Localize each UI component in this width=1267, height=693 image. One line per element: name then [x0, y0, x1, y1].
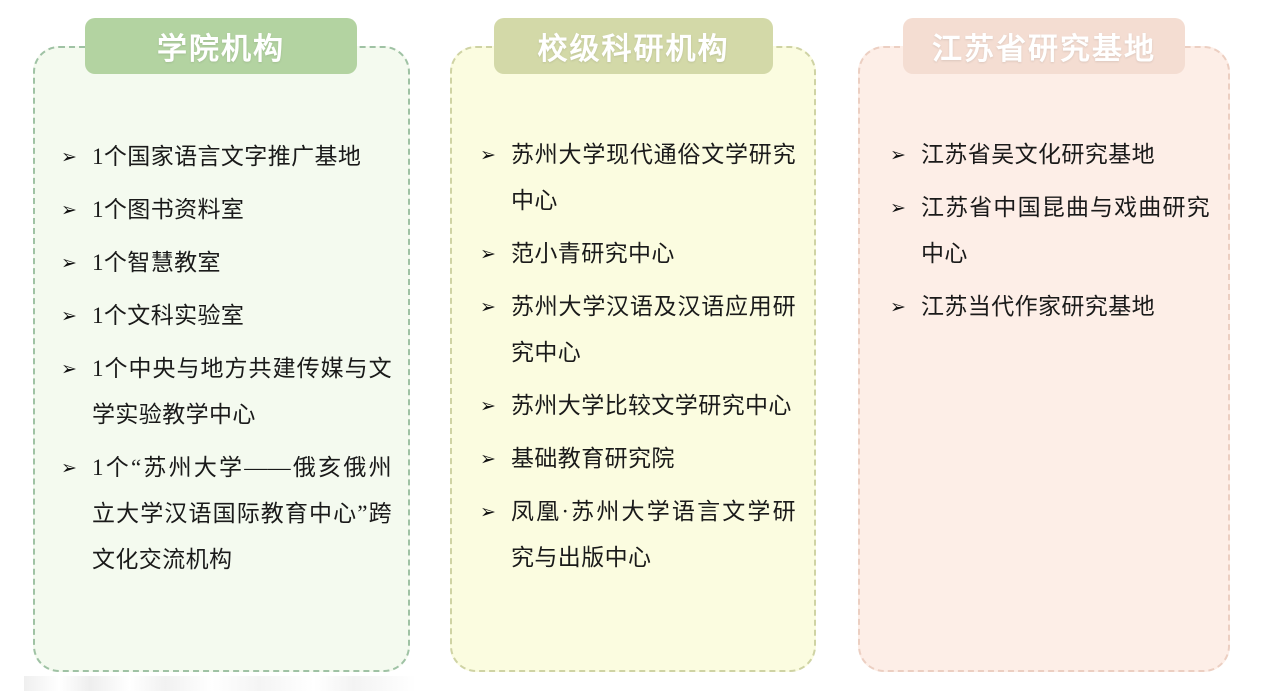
list-item: ➢ 苏州大学汉语及汉语应用研究中心	[480, 284, 796, 376]
arrow-bullet-icon: ➢	[61, 134, 87, 180]
list-item-label: 1个图书资料室	[92, 187, 392, 233]
arrow-bullet-icon: ➢	[890, 284, 916, 330]
list-item-label: 苏州大学现代通俗文学研究中心	[511, 132, 796, 224]
arrow-bullet-icon: ➢	[890, 185, 916, 231]
list-item: ➢ 苏州大学现代通俗文学研究中心	[480, 132, 796, 224]
list-item-label: 1个智慧教室	[92, 240, 392, 286]
list-item-label: 1个“苏州大学——俄亥俄州立大学汉语国际教育中心”跨文化交流机构	[92, 445, 392, 583]
list-item: ➢ 江苏省吴文化研究基地	[890, 132, 1210, 178]
list-item: ➢ 1个文科实验室	[61, 293, 392, 339]
arrow-bullet-icon: ➢	[61, 293, 87, 339]
list-item: ➢ 范小青研究中心	[480, 231, 796, 277]
arrow-bullet-icon: ➢	[480, 231, 506, 277]
list-academy-institutions: ➢ 1个国家语言文字推广基地 ➢ 1个图书资料室 ➢ 1个智慧教室 ➢ 1个文科…	[35, 134, 408, 590]
card-title-university-research-institutions: 校级科研机构	[494, 18, 773, 74]
arrow-bullet-icon: ➢	[480, 284, 506, 330]
arrow-bullet-icon: ➢	[480, 383, 506, 429]
list-item: ➢ 江苏省中国昆曲与戏曲研究中心	[890, 185, 1210, 277]
list-item-label: 1个中央与地方共建传媒与文学实验教学中心	[92, 346, 392, 438]
list-item-label: 苏州大学比较文学研究中心	[511, 383, 796, 429]
card-title-academy-institutions: 学院机构	[85, 18, 357, 74]
arrow-bullet-icon: ➢	[480, 132, 506, 178]
list-item: ➢ 1个图书资料室	[61, 187, 392, 233]
infographic-board: ➢ 1个国家语言文字推广基地 ➢ 1个图书资料室 ➢ 1个智慧教室 ➢ 1个文科…	[0, 0, 1267, 693]
list-item-label: 江苏省吴文化研究基地	[921, 132, 1210, 178]
list-item-label: 苏州大学汉语及汉语应用研究中心	[511, 284, 796, 376]
list-item: ➢ 1个中央与地方共建传媒与文学实验教学中心	[61, 346, 392, 438]
arrow-bullet-icon: ➢	[890, 132, 916, 178]
list-item-label: 凤凰·苏州大学语言文学研究与出版中心	[511, 489, 796, 581]
card-jiangsu-province-research-bases: ➢ 江苏省吴文化研究基地 ➢ 江苏省中国昆曲与戏曲研究中心 ➢ 江苏当代作家研究…	[858, 46, 1230, 672]
list-item: ➢ 凤凰·苏州大学语言文学研究与出版中心	[480, 489, 796, 581]
arrow-bullet-icon: ➢	[61, 445, 87, 491]
scan-artifact	[24, 676, 416, 691]
list-item: ➢ 江苏当代作家研究基地	[890, 284, 1210, 330]
list-item-label: 范小青研究中心	[511, 231, 796, 277]
arrow-bullet-icon: ➢	[61, 346, 87, 392]
list-item-label: 1个文科实验室	[92, 293, 392, 339]
arrow-bullet-icon: ➢	[61, 240, 87, 286]
list-item: ➢ 苏州大学比较文学研究中心	[480, 383, 796, 429]
list-item: ➢ 1个智慧教室	[61, 240, 392, 286]
list-item-label: 基础教育研究院	[511, 436, 796, 482]
list-item-label: 江苏省中国昆曲与戏曲研究中心	[921, 185, 1210, 277]
arrow-bullet-icon: ➢	[480, 436, 506, 482]
card-title-jiangsu-province-research-bases: 江苏省研究基地	[903, 18, 1185, 74]
list-item: ➢ 1个“苏州大学——俄亥俄州立大学汉语国际教育中心”跨文化交流机构	[61, 445, 392, 583]
list-jiangsu-province-research-bases: ➢ 江苏省吴文化研究基地 ➢ 江苏省中国昆曲与戏曲研究中心 ➢ 江苏当代作家研究…	[860, 132, 1228, 337]
card-academy-institutions: ➢ 1个国家语言文字推广基地 ➢ 1个图书资料室 ➢ 1个智慧教室 ➢ 1个文科…	[33, 46, 410, 672]
list-item-label: 1个国家语言文字推广基地	[92, 134, 392, 180]
list-item: ➢ 1个国家语言文字推广基地	[61, 134, 392, 180]
list-item-label: 江苏当代作家研究基地	[921, 284, 1210, 330]
arrow-bullet-icon: ➢	[480, 489, 506, 535]
list-university-research-institutions: ➢ 苏州大学现代通俗文学研究中心 ➢ 范小青研究中心 ➢ 苏州大学汉语及汉语应用…	[452, 132, 814, 588]
card-university-research-institutions: ➢ 苏州大学现代通俗文学研究中心 ➢ 范小青研究中心 ➢ 苏州大学汉语及汉语应用…	[450, 46, 816, 672]
arrow-bullet-icon: ➢	[61, 187, 87, 233]
list-item: ➢ 基础教育研究院	[480, 436, 796, 482]
